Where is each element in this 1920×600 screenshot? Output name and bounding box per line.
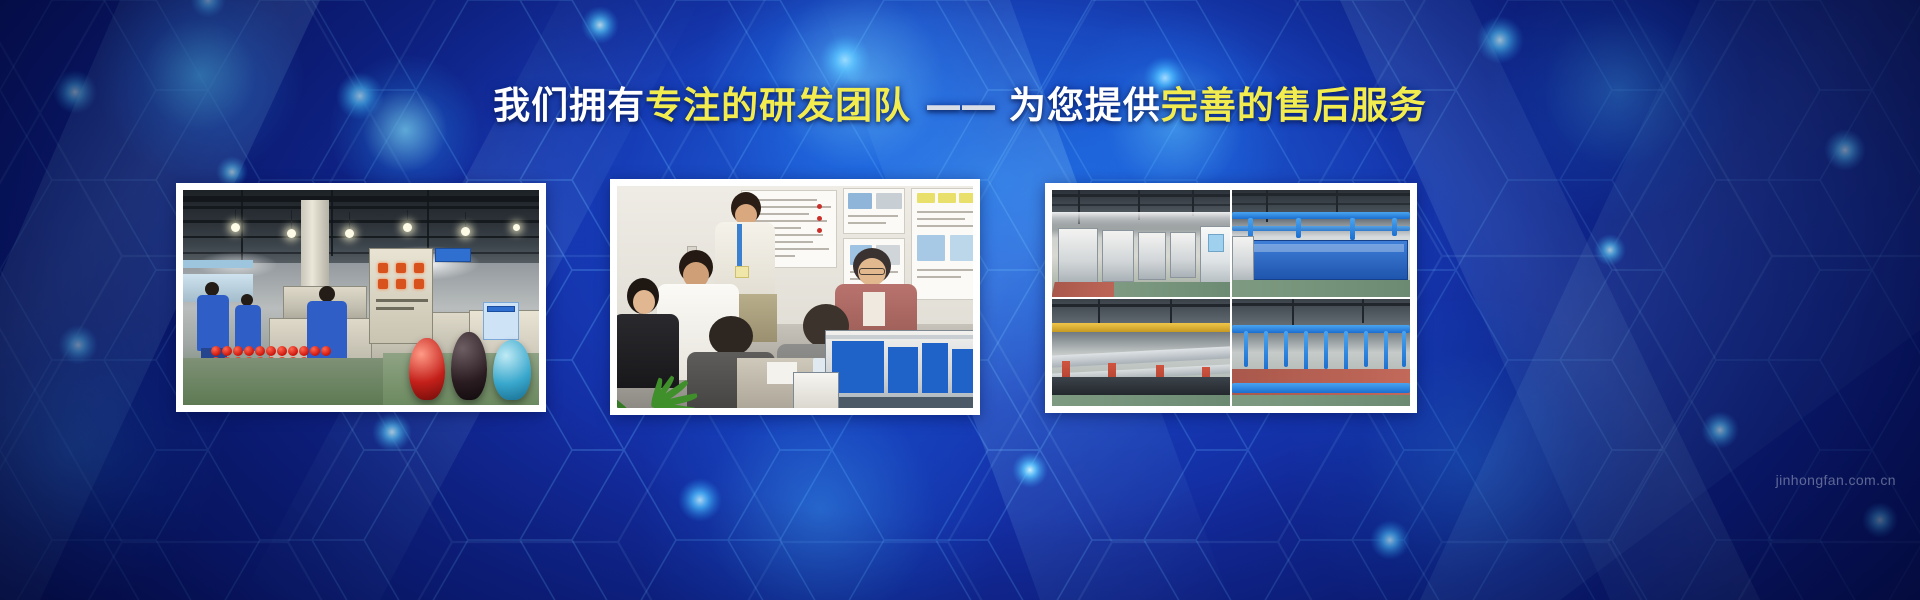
product-vase-dark: [451, 332, 487, 400]
promo-banner: 我们拥有专注的研发团队 —— 为您提供完善的售后服务: [0, 0, 1920, 600]
headline-segment-1: 我们拥有: [493, 84, 645, 127]
photo-equipment-collage: [1052, 190, 1410, 406]
product-vase-blue: [493, 340, 531, 400]
site-watermark: jinhongfan.com.cn: [1776, 472, 1896, 488]
photo-card-technical-meeting[interactable]: [610, 179, 980, 415]
headline-segment-2: 专注的研发团队: [645, 84, 911, 127]
headline-segment-4: 为您提供: [995, 84, 1161, 127]
equipment-model-icon: [825, 330, 973, 408]
control-panel-icon: [369, 248, 433, 344]
collage-quadrant-2: [1232, 190, 1410, 297]
photo-card-production-line[interactable]: [176, 183, 546, 412]
headline-segment-5: 完善的售后服务: [1161, 84, 1427, 127]
photo-production-line: [183, 190, 539, 405]
photo-technical-meeting: [617, 186, 973, 408]
headline-segment-dash: ——: [925, 84, 995, 127]
plant-icon: [621, 358, 701, 408]
collage-quadrant-4: [1232, 299, 1410, 406]
collage-quadrant-1: [1052, 190, 1230, 297]
collage-quadrant-3: [1052, 299, 1230, 406]
product-vase-red: [409, 338, 445, 400]
photo-card-equipment-collage[interactable]: [1045, 183, 1417, 413]
headline-segment-3: [911, 84, 925, 127]
banner-headline: 我们拥有专注的研发团队 —— 为您提供完善的售后服务: [0, 84, 1920, 128]
